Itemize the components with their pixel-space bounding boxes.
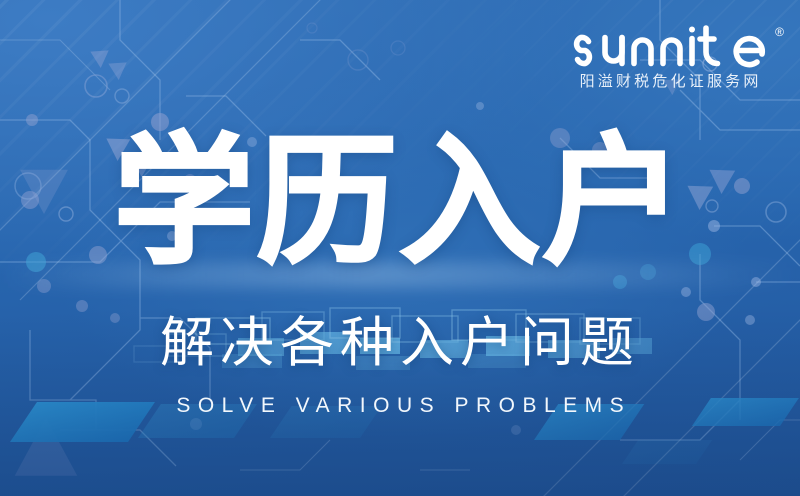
sunnite-wordmark-icon: [566, 24, 772, 68]
decor-triangle: [108, 62, 128, 80]
decor-circle: [37, 279, 51, 293]
decor-circle: [115, 89, 129, 103]
decor-circle: [85, 75, 107, 97]
decor-circle: [681, 287, 691, 297]
decor-parallelogram: [622, 440, 712, 464]
page-title: 学历入户: [0, 128, 800, 278]
decor-circle: [476, 102, 484, 110]
decor-circle: [348, 50, 368, 70]
decor-circle: [190, 418, 202, 430]
subtitle-english: SOLVE VARIOUS PROBLEMS: [0, 393, 800, 419]
subtitle-chinese: 解决各种入户问题: [0, 313, 800, 373]
promo-banner: ® 阳溢财税危化证服务网 学历入户 解决各种入户问题 SOLVE VARIOUS…: [0, 0, 800, 496]
brand-logo[interactable]: ® 阳溢财税危化证服务网: [566, 24, 786, 96]
registered-trademark-icon: ®: [775, 26, 784, 38]
decor-triangle: [90, 50, 110, 68]
decor-triangle: [15, 418, 78, 476]
decor-circle: [751, 277, 761, 287]
decor-circle: [26, 114, 38, 126]
logo-chinese-name: 阳溢财税危化证服务网: [566, 72, 772, 91]
decor-circle: [307, 23, 317, 33]
decor-circle: [76, 300, 88, 312]
decor-circle: [511, 425, 521, 435]
decor-circle: [391, 41, 405, 55]
